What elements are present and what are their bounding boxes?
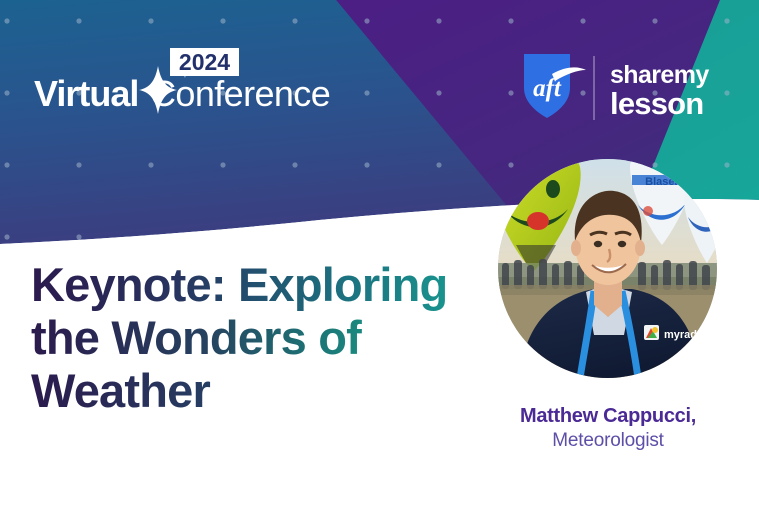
year-badge: 2024 <box>171 49 238 75</box>
speaker-name: Matthew Cappucci, <box>470 405 746 429</box>
headline-line-2: the Wonders of <box>31 311 491 364</box>
speaker-caption: Matthew Cappucci, Meteorologist <box>470 405 746 452</box>
headline-line-1: Keynote: Exploring <box>31 258 491 311</box>
speaker-portrait: Blaser <box>498 159 717 378</box>
year-badge-text: 2024 <box>179 49 230 75</box>
page-title: Keynote: Exploring the Wonders of Weathe… <box>31 258 491 417</box>
brand-line2: lesson <box>610 86 703 121</box>
speaker-role: Meteorologist <box>470 430 746 452</box>
conference-word-light: Conference <box>150 73 330 114</box>
brand-line1: sharemy <box>610 61 709 89</box>
headline-line-3: Weather <box>31 364 491 417</box>
brand-logo: aft sharemy lesson <box>522 52 734 124</box>
keynote-slide: 2024 Virtual Conference aft sharemy less… <box>0 0 759 513</box>
conference-word-bold: Virtual <box>34 73 138 114</box>
conference-logo: 2024 Virtual Conference <box>34 44 334 134</box>
aft-shield-icon: aft <box>524 54 586 118</box>
